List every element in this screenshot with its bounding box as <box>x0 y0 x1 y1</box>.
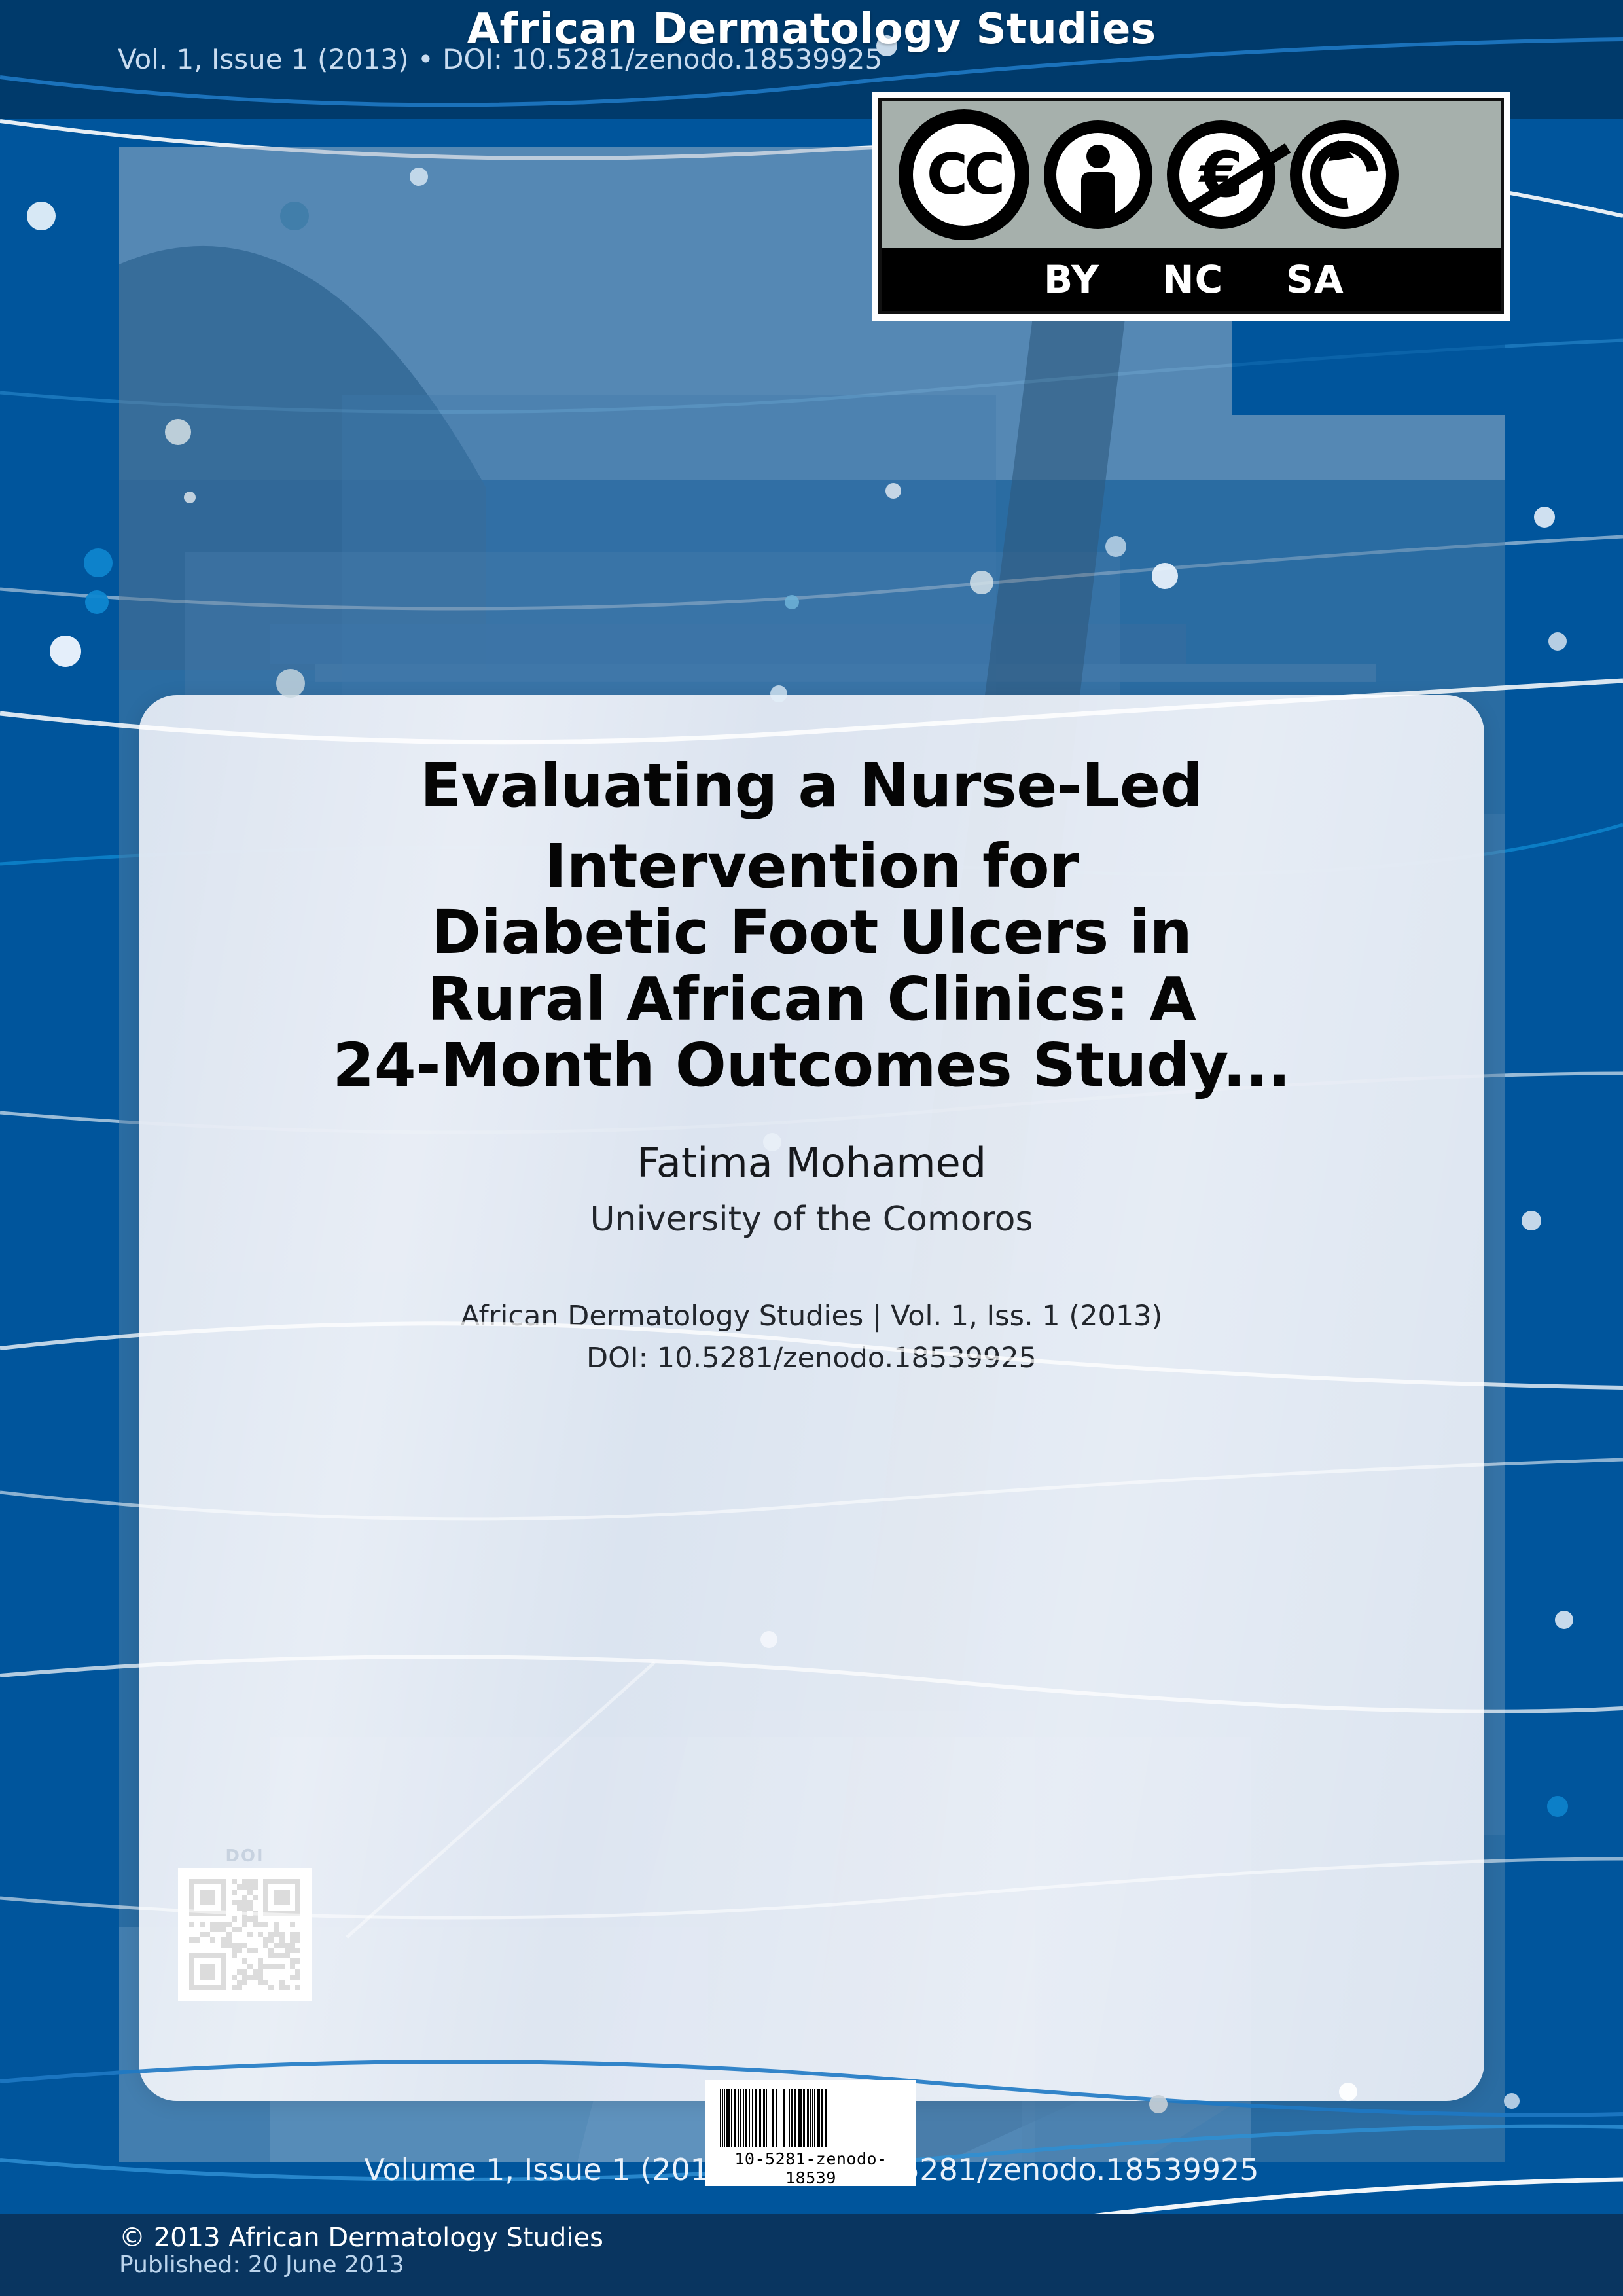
sa-arrow-tip <box>1325 138 1354 161</box>
qr-matrix <box>189 1879 300 1990</box>
footer-published-date: Published: 20 June 2013 <box>119 2253 603 2278</box>
license-label-nc: NC <box>1162 257 1223 302</box>
footer-text-block: © 2013 African Dermatology Studies Publi… <box>119 2224 603 2278</box>
by-body-shape <box>1081 172 1115 222</box>
citation-block: African Dermatology Studies | Vol. 1, Is… <box>237 1295 1386 1380</box>
title-line-3: Diabetic Foot Ulcers in <box>237 899 1386 965</box>
license-label-by: BY <box>1044 257 1099 302</box>
license-icon-row: CC € <box>882 101 1501 248</box>
barcode-caption: 10-5281-zenodo-18539 <box>719 2149 903 2187</box>
cc-license-badge[interactable]: CC € BY NC SA <box>872 92 1510 321</box>
by-head-shape <box>1086 145 1110 168</box>
title-line-5: 24-Month Outcomes Study... <box>237 1032 1386 1098</box>
title-line-1: Evaluating a Nurse-Led <box>237 753 1386 819</box>
sa-share-alike-icon <box>1290 120 1399 229</box>
journal-cover-page: Evaluating a Nurse-Led Intervention for … <box>0 0 1623 2296</box>
author-affiliation: University of the Comoros <box>237 1200 1386 1239</box>
page-title: Evaluating a Nurse-Led Intervention for … <box>237 753 1386 1098</box>
barcode-bars <box>719 2089 903 2147</box>
license-inner: CC € BY NC SA <box>878 98 1504 314</box>
doi-qr-code[interactable]: DOI <box>178 1846 312 2001</box>
title-card: Evaluating a Nurse-Led Intervention for … <box>139 695 1484 2101</box>
qr-label: DOI <box>178 1846 312 1866</box>
cc-icon-label: CC <box>927 147 1001 203</box>
sa-arc-shape <box>1296 127 1392 223</box>
qr-box <box>178 1868 312 2001</box>
title-line-4: Rural African Clinics: A <box>237 966 1386 1032</box>
footer-copyright: © 2013 African Dermatology Studies <box>119 2224 603 2251</box>
nc-euro-slash-icon: € <box>1167 120 1275 229</box>
doi-barcode: 10-5281-zenodo-18539 <box>705 2080 916 2186</box>
citation-journal-line: African Dermatology Studies | Vol. 1, Is… <box>237 1295 1386 1338</box>
masthead-volume-doi: Vol. 1, Issue 1 (2013) • DOI: 10.5281/ze… <box>118 43 882 75</box>
author-name: Fatima Mohamed <box>237 1139 1386 1187</box>
title-line-2: Intervention for <box>237 833 1386 899</box>
license-label-sa: SA <box>1286 257 1344 302</box>
license-label-row: BY NC SA <box>882 248 1501 311</box>
cc-icon: CC <box>899 109 1029 240</box>
citation-doi-line: DOI: 10.5281/zenodo.18539925 <box>237 1337 1386 1380</box>
by-person-icon <box>1044 120 1152 229</box>
